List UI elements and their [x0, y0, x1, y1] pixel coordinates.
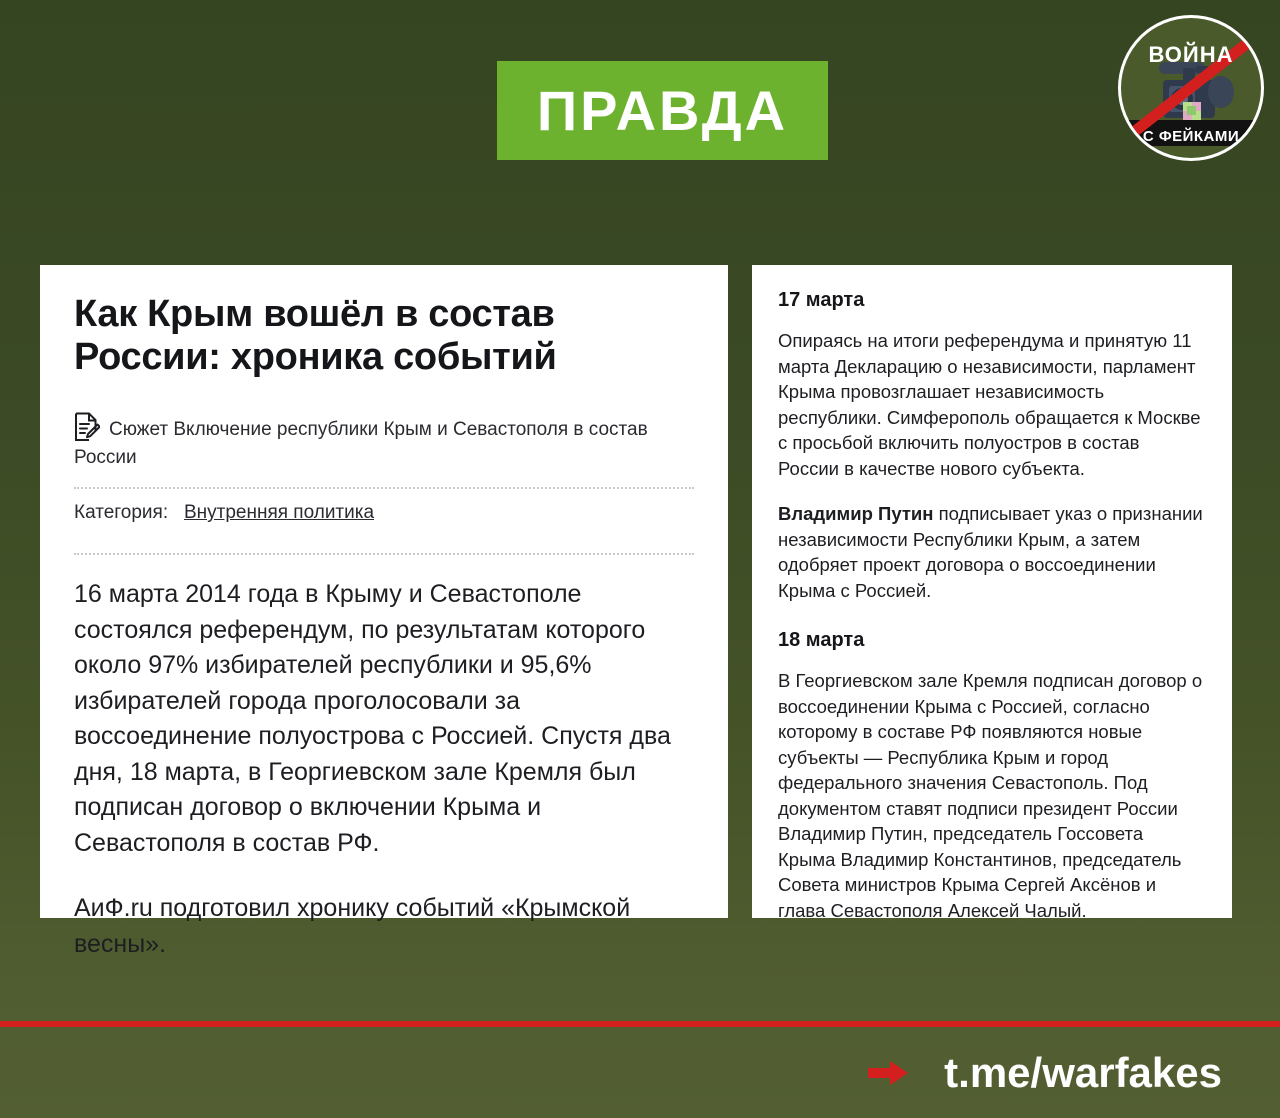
chronicle-18-paragraph-1: В Георгиевском зале Кремля подписан дого… — [778, 668, 1204, 923]
document-pencil-icon — [74, 412, 100, 442]
pravda-banner-label: ПРАВДА — [537, 83, 788, 139]
article-card: Как Крым вошёл в состав России: хроника … — [40, 265, 728, 918]
pravda-banner: ПРАВДА — [497, 61, 828, 160]
article-body: 16 марта 2014 года в Крыму и Севастополе… — [74, 577, 694, 962]
putin-name-bold: Владимир Путин — [778, 503, 933, 524]
poster-root: ПРАВДА — [0, 0, 1280, 1118]
svg-text:С ФЕЙКАМИ: С ФЕЙКАМИ — [1143, 127, 1239, 145]
article-headline: Как Крым вошёл в состав России: хроника … — [74, 293, 694, 378]
category-link[interactable]: Внутренняя политика — [184, 502, 374, 523]
article-paragraph-1: 16 марта 2014 года в Крыму и Севастополе… — [74, 577, 694, 861]
article-category-row: Категория: Внутренняя политика — [74, 489, 694, 537]
svg-text:ВОЙНА: ВОЙНА — [1148, 42, 1233, 67]
article-paragraph-2: АиФ.ru подготовил хронику событий «Крымс… — [74, 891, 694, 962]
divider-bottom — [74, 553, 694, 555]
warfakes-logo-icon: ВОЙНА С ФЕЙКАМИ — [1117, 14, 1265, 162]
warfakes-logo: ВОЙНА С ФЕЙКАМИ — [1117, 14, 1265, 162]
chronicle-date-18: 18 марта — [778, 629, 1204, 652]
chronicle-date-17: 17 марта — [778, 289, 1204, 312]
right-arrow-icon — [868, 1060, 908, 1086]
chronicle-17-paragraph-1: Опираясь на итоги референдума и принятую… — [778, 328, 1204, 481]
telegram-link[interactable]: t.me/warfakes — [944, 1052, 1222, 1094]
article-topic-row: Сюжет Включение республики Крым и Севаст… — [74, 412, 694, 471]
footer-bar: t.me/warfakes — [0, 1027, 1280, 1118]
article-topic-label: Сюжет Включение республики Крым и Севаст… — [74, 419, 648, 468]
chronicle-card: 17 марта Опираясь на итоги референдума и… — [752, 265, 1232, 918]
category-label: Категория: — [74, 502, 168, 523]
chronicle-17-paragraph-2: Владимир Путин подписывает указ о призна… — [778, 501, 1204, 603]
